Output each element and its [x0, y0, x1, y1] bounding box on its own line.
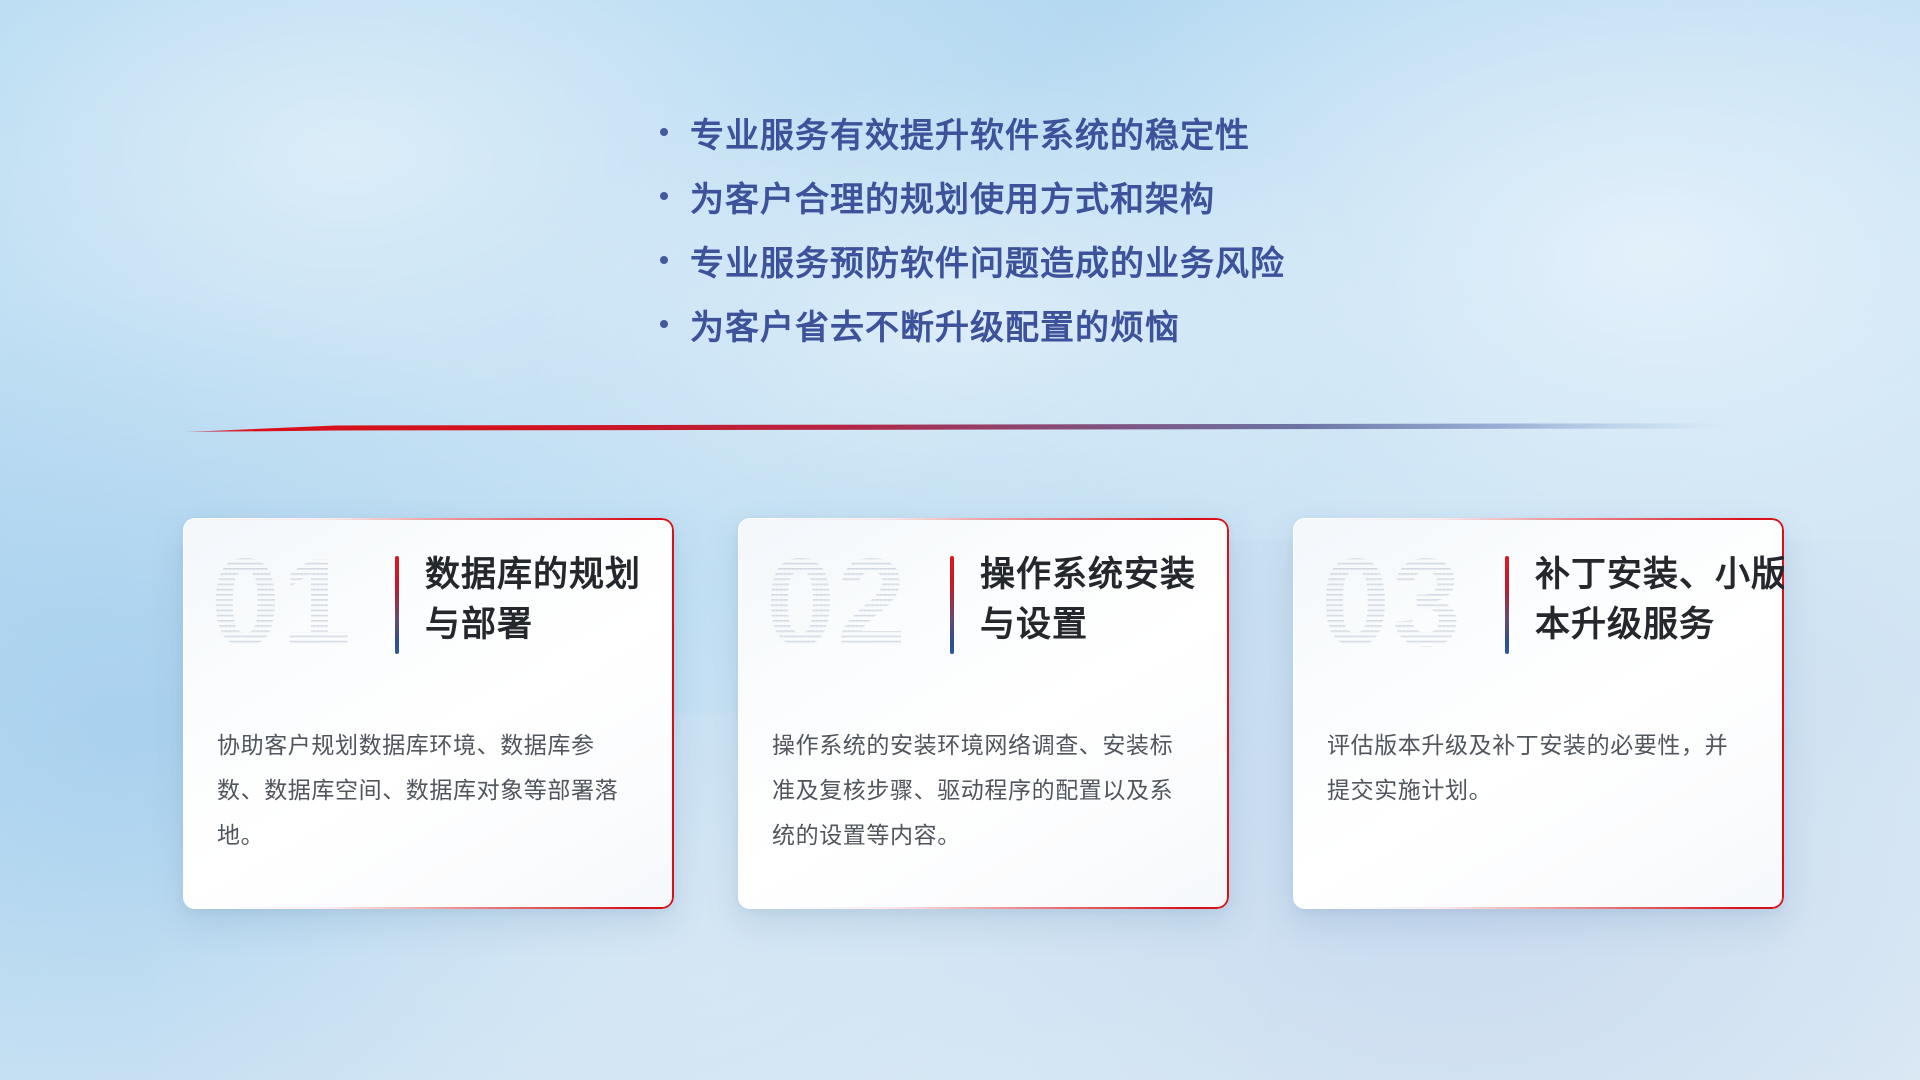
- service-card-list: 01 数据库的规划与部署 协助客户规划数据库环境、数据库参数、数据库空间、数据库…: [183, 518, 1784, 909]
- service-card[interactable]: 03 补丁安装、小版本升级服务 评估版本升级及补丁安装的必要性，并提交实施计划。: [1293, 518, 1784, 909]
- card-title-accent-bar: [1505, 556, 1509, 654]
- service-card[interactable]: 02 操作系统安装与设置 操作系统的安装环境网络调查、安装标准及复核步骤、驱动程…: [738, 518, 1229, 909]
- list-item: 为客户合理的规划使用方式和架构: [660, 164, 1285, 228]
- card-number-watermark-icon: 02: [764, 542, 924, 662]
- svg-text:01: 01: [211, 542, 353, 662]
- card-header: 03 补丁安装、小版本升级服务: [1293, 518, 1784, 718]
- card-title: 数据库的规划与部署: [425, 550, 674, 650]
- card-title-block: 补丁安装、小版本升级服务: [1505, 550, 1784, 654]
- service-card[interactable]: 01 数据库的规划与部署 协助客户规划数据库环境、数据库参数、数据库空间、数据库…: [183, 518, 674, 909]
- bullet-dot-icon: [660, 320, 690, 328]
- bullet-label: 为客户合理的规划使用方式和架构: [690, 172, 1215, 221]
- card-header: 01 数据库的规划与部署: [183, 518, 674, 718]
- card-number-watermark-icon: 01: [209, 542, 369, 662]
- card-title: 补丁安装、小版本升级服务: [1535, 550, 1784, 650]
- list-item: 专业服务预防软件问题造成的业务风险: [660, 228, 1285, 292]
- bullet-label: 专业服务预防软件问题造成的业务风险: [690, 236, 1285, 285]
- bullet-dot-icon: [660, 128, 690, 136]
- svg-text:03: 03: [1321, 542, 1463, 662]
- card-description: 操作系统的安装环境网络调查、安装标准及复核步骤、驱动程序的配置以及系统的设置等内…: [772, 723, 1195, 858]
- card-header: 02 操作系统安装与设置: [738, 518, 1229, 718]
- list-item: 为客户省去不断升级配置的烦恼: [660, 292, 1285, 356]
- card-title-block: 数据库的规划与部署: [395, 550, 674, 654]
- card-title-block: 操作系统安装与设置: [950, 550, 1229, 654]
- card-description: 评估版本升级及补丁安装的必要性，并提交实施计划。: [1327, 723, 1750, 813]
- svg-text:02: 02: [766, 542, 908, 662]
- card-title: 操作系统安装与设置: [980, 550, 1229, 650]
- bullet-label: 专业服务有效提升软件系统的稳定性: [690, 108, 1250, 157]
- list-item: 专业服务有效提升软件系统的稳定性: [660, 100, 1285, 164]
- benefits-bullet-list: 专业服务有效提升软件系统的稳定性 为客户合理的规划使用方式和架构 专业服务预防软…: [660, 100, 1285, 356]
- card-number-watermark-icon: 03: [1319, 542, 1479, 662]
- card-title-accent-bar: [395, 556, 399, 654]
- bullet-label: 为客户省去不断升级配置的烦恼: [690, 300, 1180, 349]
- bullet-dot-icon: [660, 256, 690, 264]
- section-divider: [186, 418, 1731, 440]
- card-title-accent-bar: [950, 556, 954, 654]
- bullet-dot-icon: [660, 192, 690, 200]
- card-description: 协助客户规划数据库环境、数据库参数、数据库空间、数据库对象等部署落地。: [217, 723, 640, 858]
